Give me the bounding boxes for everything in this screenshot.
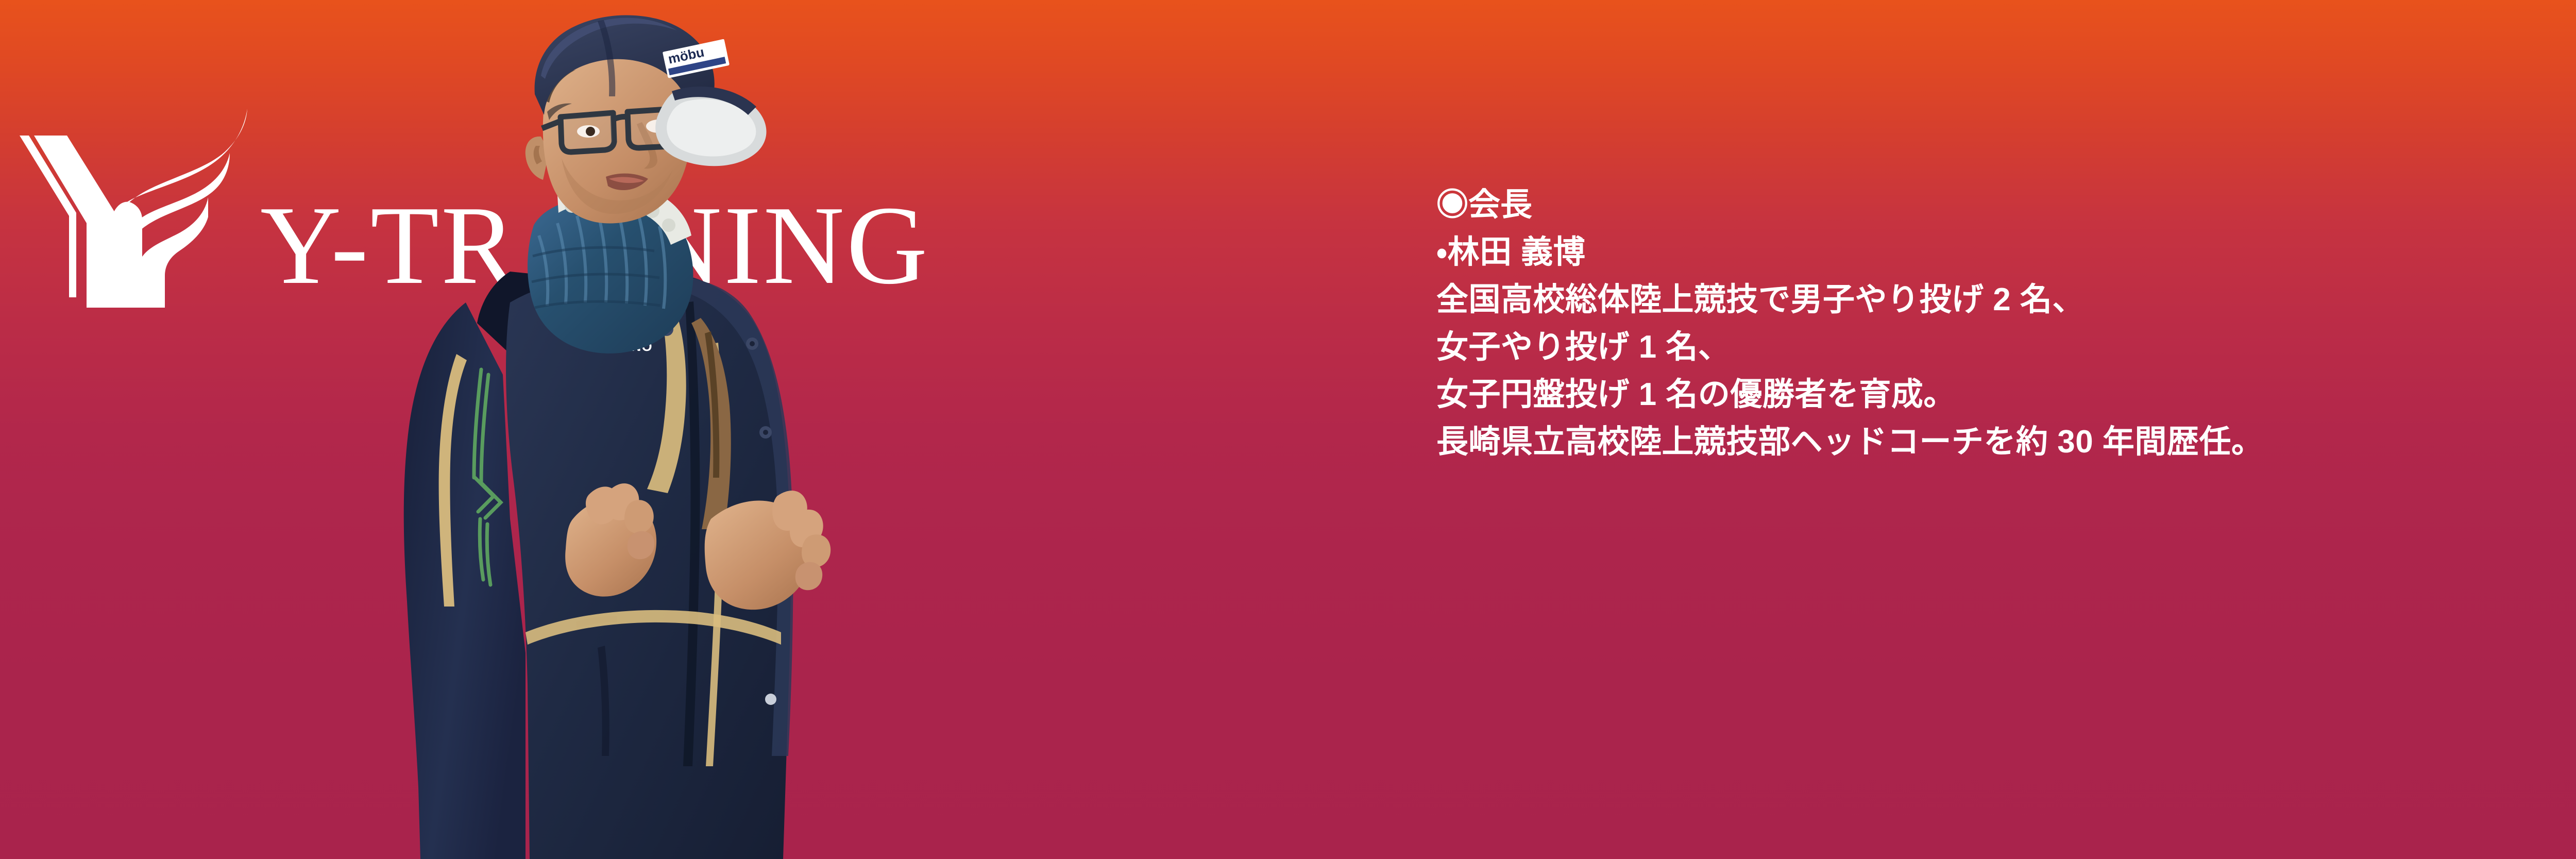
hero-banner: Y-TRAINING	[0, 0, 2576, 859]
bio-line-career: 長崎県立高校陸上競技部ヘッドコーチを約 30 年間歴任。	[1436, 418, 2518, 466]
bio-line-achievement-3: 女子円盤投げ 1 名の優勝者を育成。	[1436, 371, 2518, 418]
chairman-bio-block: ◉会長 ・林田 義博 全国高校総体陸上競技で男子やり投げ 2 名、 女子やり投げ…	[1436, 181, 2518, 466]
chairman-portrait-photo: MIZUNO	[355, 14, 840, 859]
bio-line-achievement-1: 全国高校総体陸上競技で男子やり投げ 2 名、	[1436, 276, 2518, 324]
bio-line-achievement-2: 女子やり投げ 1 名、	[1436, 324, 2518, 371]
bio-line-heading: ◉会長	[1436, 181, 2518, 229]
winged-y-logo-icon[interactable]	[9, 106, 251, 312]
bio-line-name: ・林田 義博	[1436, 229, 2518, 276]
